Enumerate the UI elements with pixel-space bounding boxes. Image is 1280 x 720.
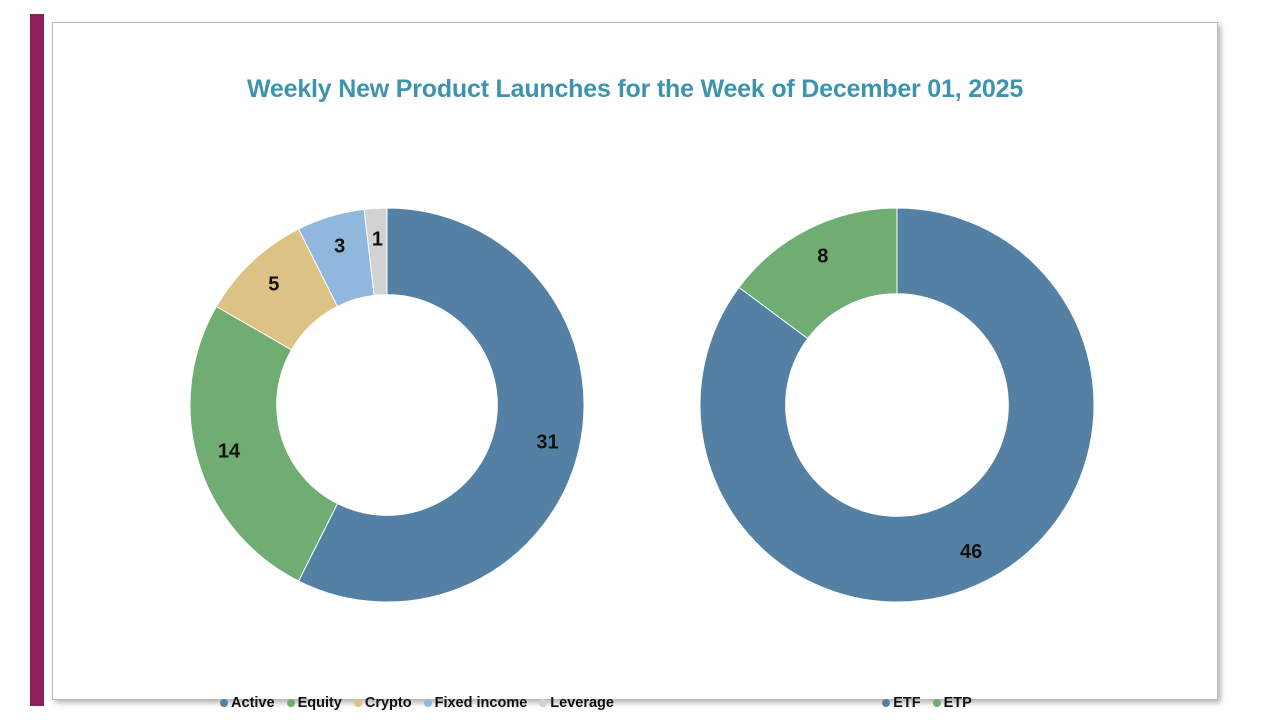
legend-category: ActiveEquityCryptoFixed incomeLeverage — [167, 693, 667, 713]
legend-item-label: ETP — [944, 696, 972, 711]
legend-item[interactable]: Active — [220, 696, 275, 711]
legend-item[interactable]: Leverage — [539, 696, 614, 711]
legend-item[interactable]: Crypto — [354, 696, 412, 711]
donut-svg-category: 3114531 — [167, 185, 607, 625]
legend-item[interactable]: ETF — [882, 696, 920, 711]
slice-data-label: 1 — [372, 229, 383, 251]
page-title: Weekly New Product Launches for the Week… — [53, 75, 1217, 104]
legend-item[interactable]: Equity — [287, 696, 342, 711]
legend-item-label: Active — [231, 696, 275, 711]
legend-marker-icon — [539, 699, 547, 707]
slice-data-label: 8 — [817, 246, 828, 268]
legend-marker-icon — [287, 699, 295, 707]
slice-data-label: 14 — [218, 441, 241, 463]
legend-marker-icon — [354, 699, 362, 707]
legend-item-label: Equity — [298, 696, 342, 711]
donut-slice[interactable] — [190, 307, 337, 582]
content-card: Weekly New Product Launches for the Week… — [52, 22, 1218, 700]
legend-marker-icon — [933, 699, 941, 707]
legend-marker-icon — [424, 699, 432, 707]
donut-chart-structure: 468 — [677, 185, 1117, 625]
slice-data-label: 5 — [268, 273, 279, 295]
legend-item-label: Fixed income — [435, 696, 528, 711]
slice-data-label: 46 — [960, 541, 982, 563]
accent-bar — [30, 14, 44, 706]
legend-item-label: Crypto — [365, 696, 412, 711]
donut-svg-structure: 468 — [677, 185, 1117, 625]
legend-structure: ETFETP — [677, 693, 1177, 713]
legend-item[interactable]: Fixed income — [424, 696, 528, 711]
slide-canvas: Weekly New Product Launches for the Week… — [0, 0, 1280, 720]
legend-item-label: Leverage — [550, 696, 614, 711]
donut-chart-category: 3114531 — [167, 185, 607, 625]
slice-data-label: 31 — [536, 431, 558, 453]
legend-marker-icon — [882, 699, 890, 707]
legend-item-label: ETF — [893, 696, 920, 711]
legend-item[interactable]: ETP — [933, 696, 972, 711]
slice-data-label: 3 — [334, 235, 345, 257]
legend-marker-icon — [220, 699, 228, 707]
